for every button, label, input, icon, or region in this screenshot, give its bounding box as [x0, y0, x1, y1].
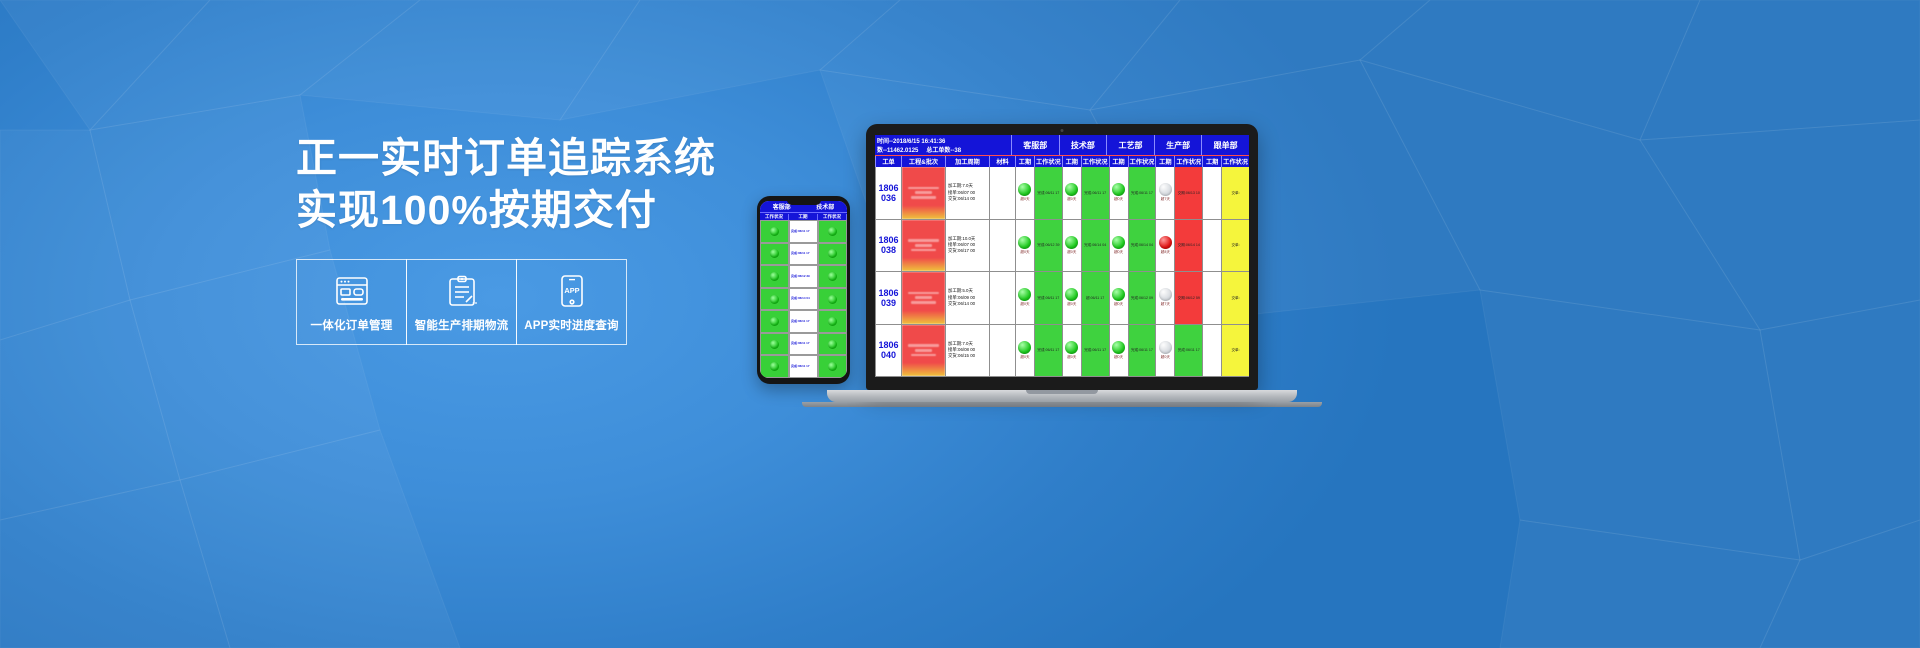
status-dot-grey	[1159, 288, 1172, 301]
cell-sub-text: 超8天	[1161, 250, 1170, 255]
cell-sub-text: 交期:06/12 59	[1178, 296, 1200, 301]
status-dot-green	[1018, 236, 1031, 249]
cell-sub-text: 超0天	[1067, 355, 1076, 360]
department-header-row: 客服部 技术部 工艺部 生产部 跟单部	[1011, 135, 1249, 155]
cell-sub-text: 交单:	[1231, 243, 1239, 248]
cell-sub-text: 超0天	[1114, 302, 1123, 307]
status-dot-green	[770, 340, 779, 349]
cell-sub-text: 超0天	[1114, 197, 1123, 202]
mobile-app-icon: APP	[560, 271, 584, 311]
total-orders-label: 总工单数--38	[926, 145, 961, 154]
cell-sub-text: 超0天	[1067, 302, 1076, 307]
list-item[interactable]	[760, 288, 789, 311]
cell-sub-text: 完成:06/11 17	[1037, 296, 1059, 301]
cell-status[interactable]: 完成:06/11 17	[1081, 325, 1109, 377]
work-order-number: 1806036	[878, 183, 898, 203]
dept-header-production[interactable]: 生产部	[1154, 135, 1202, 155]
cell-sub-text: 交单:	[1231, 348, 1239, 353]
list-item[interactable]	[760, 243, 789, 266]
status-dot-green	[828, 295, 837, 304]
cell-duration[interactable]: 超0天	[1062, 272, 1081, 324]
cell-sub-text: 交期:06/14 14	[1178, 243, 1200, 248]
status-dot-green	[1018, 341, 1031, 354]
cell-status[interactable]: 完成:06/14 04	[1081, 220, 1109, 272]
list-item[interactable]	[818, 355, 847, 378]
laptop-foot	[802, 402, 1322, 407]
phone-table-body: 完成:06/11 17 完成:06/11 17 完成:06/12 39 完成:0…	[760, 220, 847, 378]
cell-status[interactable]: 完成:06/12 09	[1128, 272, 1156, 324]
cell-material[interactable]	[989, 167, 1015, 219]
cell-duration[interactable]: 超7天	[1155, 272, 1174, 324]
cell-status[interactable]: 完成:06/11 17	[1034, 325, 1062, 377]
table-row[interactable]: 1806039加工期:5.0天接单:06/09 00交货:06/14 00超0天…	[875, 272, 1249, 325]
status-dot-green	[770, 295, 779, 304]
cell-sub-text: 超7天	[1161, 302, 1170, 307]
cell-sub-text: 完成:06/11 17	[1037, 348, 1059, 353]
status-dot-green	[1018, 288, 1031, 301]
cell-work-order[interactable]: 1806039	[875, 272, 901, 324]
table-row[interactable]: 1806036加工期:7.0天接单:06/07 00交货:06/14 00超0天…	[875, 167, 1249, 220]
status-dot-green	[770, 249, 779, 258]
phone-column-header: 工作状况 工期 工作状况	[760, 212, 847, 220]
list-item[interactable]	[818, 220, 847, 243]
dept-header-customer-service[interactable]: 客服部	[1011, 135, 1059, 155]
cell-material[interactable]	[989, 220, 1015, 272]
cell-status[interactable]: 交单:	[1221, 325, 1249, 377]
clipboard-schedule-icon	[447, 271, 477, 311]
status-dot-green	[770, 272, 779, 281]
cell-status[interactable]: 超:06/11 17	[1081, 272, 1109, 324]
dept-header-process[interactable]: 工艺部	[1106, 135, 1154, 155]
cell-status[interactable]: 完成:06/11 17	[1128, 167, 1156, 219]
feature-label: APP实时进度查询	[524, 317, 618, 333]
feature-smart-scheduling[interactable]: 智能生产排期物流	[406, 259, 517, 345]
webcam-icon	[1061, 129, 1064, 132]
list-item[interactable]: 完成:06/14 04	[789, 288, 818, 311]
cell-sub-text: 完成:06/11 17	[1084, 348, 1106, 353]
cell-sub-text: 超7天	[1161, 197, 1170, 202]
laptop-mockup: 时间--2018/6/15 16:41:36 数--11462.0125 总工单…	[866, 124, 1322, 407]
work-order-number: 1806038	[878, 235, 898, 255]
cell-duration[interactable]	[1202, 167, 1221, 219]
redacted-project-name	[902, 272, 945, 324]
page-title-line2: 实现100%按期交付	[296, 185, 726, 237]
feature-list: 一体化订单管理 智能生产排期物流 APP	[296, 259, 626, 345]
cell-work-order[interactable]: 1806038	[875, 220, 901, 272]
cell-status[interactable]: 交期:06/14 14	[1174, 220, 1202, 272]
list-item[interactable]	[760, 265, 789, 288]
cell-sub-text: 超:06/11 17	[1086, 296, 1104, 301]
cell-project[interactable]	[901, 220, 945, 272]
cell-sub-text: 完成:06/11 17	[1178, 348, 1200, 353]
cell-sub-text: 超0天	[1020, 355, 1029, 360]
cell-sub-text: 交单:	[1231, 296, 1239, 301]
cell-duration[interactable]: 超7天	[1155, 167, 1174, 219]
list-item[interactable]: 完成:06/11 17	[789, 220, 818, 243]
cell-sub-text: 完成:06/14 04	[1084, 243, 1106, 248]
cell-duration[interactable]: 超8天	[1155, 220, 1174, 272]
list-item[interactable]: 完成:06/11 17	[789, 333, 818, 356]
col-material[interactable]: 材料	[989, 156, 1015, 167]
cell-cycle[interactable]: 加工期:7.0天接单:06/08 00交货:06/15 00	[945, 325, 989, 377]
cell-sub-text: 超0天	[1161, 355, 1170, 360]
cycle-text: 加工期:7.0天接单:06/07 00交货:06/14 00	[946, 183, 989, 202]
laptop-screen: 时间--2018/6/15 16:41:36 数--11462.0125 总工单…	[875, 135, 1249, 377]
cell-text: 完成:06/11 17	[791, 252, 810, 255]
cell-status[interactable]: 交单:	[1221, 167, 1249, 219]
cell-sub-text: 交单:	[1231, 191, 1239, 196]
laptop-base	[827, 390, 1297, 402]
dept-header-technical[interactable]: 技术部	[1059, 135, 1107, 155]
cell-status[interactable]: 交单:	[1221, 220, 1249, 272]
laptop-lid: 时间--2018/6/15 16:41:36 数--11462.0125 总工单…	[866, 124, 1258, 390]
status-dot-red	[1159, 236, 1172, 249]
redacted-project-name	[902, 220, 945, 272]
column-header-row: 工单 工程&批次 加工周期 材料 工期 工作状况 工期 工作状况 工期 工作状况…	[875, 155, 1249, 167]
phone-col: 工作状况	[818, 214, 847, 220]
cell-sub-text: 完成:06/12 39	[1037, 243, 1059, 248]
cell-duration[interactable]: 超0天	[1015, 220, 1034, 272]
list-item[interactable]	[760, 310, 789, 333]
dept-header-followup[interactable]: 跟单部	[1201, 135, 1249, 155]
cell-status[interactable]: 完成:06/11 17	[1128, 325, 1156, 377]
cell-sub-text: 完成:06/14 04	[1131, 243, 1153, 248]
cell-sub-text: 超0天	[1020, 250, 1029, 255]
cell-status[interactable]: 交单:	[1221, 272, 1249, 324]
count-label: 数--11462.0125	[877, 145, 918, 154]
cell-sub-text: 完成:06/12 09	[1131, 296, 1153, 301]
dashboard-table-body: 1806036加工期:7.0天接单:06/07 00交货:06/14 00超0天…	[875, 167, 1249, 377]
cell-cycle[interactable]: 加工期:5.0天接单:06/09 00交货:06/14 00	[945, 272, 989, 324]
redacted-project-name	[902, 325, 945, 377]
col-status-5[interactable]: 工作状况	[1221, 156, 1249, 167]
cell-sub-text: 超0天	[1114, 250, 1123, 255]
col-status-2[interactable]: 工作状况	[1081, 156, 1109, 167]
cell-duration[interactable]: 超0天	[1062, 167, 1081, 219]
cell-duration[interactable]: 超0天	[1015, 325, 1034, 377]
cell-duration[interactable]: 超0天	[1015, 272, 1034, 324]
cell-sub-text: 超0天	[1020, 197, 1029, 202]
list-item[interactable]: 完成:06/11 17	[789, 243, 818, 266]
cell-text: 完成:06/11 17	[791, 365, 810, 368]
work-order-number: 1806039	[878, 288, 898, 308]
cell-duration[interactable]: 超0天	[1109, 325, 1128, 377]
cycle-text: 加工期:7.0天接单:06/08 00交货:06/15 00	[946, 341, 989, 360]
table-row[interactable]: 1806038加工期:10.0天接单:06/07 00交货:06/17 00超0…	[875, 220, 1249, 273]
cell-status[interactable]: 完成:06/12 39	[1034, 220, 1062, 272]
list-item[interactable]: 完成:06/11 17	[789, 310, 818, 333]
dashboard-topbar: 时间--2018/6/15 16:41:36 数--11462.0125 总工单…	[875, 135, 1249, 155]
status-dot-green	[828, 227, 837, 236]
cell-work-order[interactable]: 1806036	[875, 167, 901, 219]
cell-sub-text: 交期:06/13 10	[1178, 191, 1200, 196]
feature-label: 智能生产排期物流	[415, 317, 509, 333]
status-dot-green	[828, 249, 837, 258]
cell-text: 完成:06/11 17	[791, 230, 810, 233]
cycle-text: 加工期:5.0天接单:06/09 00交货:06/14 00	[946, 288, 989, 307]
cell-project[interactable]	[901, 272, 945, 324]
col-cycle[interactable]: 加工周期	[945, 156, 989, 167]
cell-duration[interactable]: 超0天	[1109, 220, 1128, 272]
status-dot-green	[828, 272, 837, 281]
list-item[interactable]	[760, 355, 789, 378]
status-dot-green	[1065, 236, 1078, 249]
status-dot-green	[1112, 288, 1125, 301]
col-duration-4[interactable]: 工期	[1155, 156, 1174, 167]
redacted-project-name	[902, 167, 945, 219]
status-dot-green	[770, 362, 779, 371]
cell-sub-text: 超0天	[1020, 302, 1029, 307]
list-item[interactable]	[818, 333, 847, 356]
status-dot-green	[1018, 183, 1031, 196]
cell-duration[interactable]: 超0天	[1015, 167, 1034, 219]
feature-label: 一体化订单管理	[311, 317, 393, 333]
status-dot-grey	[1159, 341, 1172, 354]
status-dot-green	[1112, 236, 1125, 249]
table-row[interactable]: 1806040加工期:7.0天接单:06/08 00交货:06/15 00超0天…	[875, 325, 1249, 378]
status-dot-green	[1112, 183, 1125, 196]
timestamp: 时间--2018/6/15 16:41:36	[877, 136, 1009, 145]
cell-text: 完成:06/14 04	[791, 297, 810, 300]
cell-status[interactable]: 完成:06/11 17	[1034, 272, 1062, 324]
cycle-text: 加工期:10.0天接单:06/07 00交货:06/17 00	[946, 236, 989, 255]
phone-col: 工期	[789, 214, 818, 220]
cell-status[interactable]: 交期:06/12 59	[1174, 272, 1202, 324]
order-window-icon	[335, 271, 369, 311]
cell-duration[interactable]	[1202, 272, 1221, 324]
cell-status[interactable]: 完成:06/11 17	[1034, 167, 1062, 219]
cell-duration[interactable]: 超0天	[1109, 167, 1128, 219]
feature-app-tracking[interactable]: APP APP实时进度查询	[516, 259, 627, 345]
cell-cycle[interactable]: 加工期:7.0天接单:06/07 00交货:06/14 00	[945, 167, 989, 219]
cell-project[interactable]	[901, 167, 945, 219]
cell-text: 完成:06/11 17	[791, 342, 810, 345]
cell-duration[interactable]: 超0天	[1155, 325, 1174, 377]
list-item[interactable]	[818, 243, 847, 266]
cell-duration[interactable]: 超0天	[1109, 272, 1128, 324]
col-duration-5[interactable]: 工期	[1202, 156, 1221, 167]
status-dot-green	[1065, 341, 1078, 354]
cell-status[interactable]: 完成:06/11 17	[1081, 167, 1109, 219]
cell-sub-text: 完成:06/11 17	[1131, 348, 1153, 353]
status-dot-green	[770, 227, 779, 236]
list-item[interactable]	[818, 288, 847, 311]
cell-duration[interactable]: 超0天	[1062, 220, 1081, 272]
status-dot-green	[1112, 341, 1125, 354]
cell-material[interactable]	[989, 272, 1015, 324]
col-status-1[interactable]: 工作状况	[1034, 156, 1062, 167]
col-status-4[interactable]: 工作状况	[1174, 156, 1202, 167]
cell-duration[interactable]	[1202, 325, 1221, 377]
phone-screen: 客服部 技术部 工作状况 工期 工作状况 完成:06/11 17 完成:06/1…	[760, 201, 847, 378]
cell-sub-text: 完成:06/11 17	[1131, 191, 1153, 196]
list-item[interactable]	[818, 310, 847, 333]
phone-column-status-right	[818, 220, 847, 378]
cell-status[interactable]: 完成:06/11 17	[1174, 325, 1202, 377]
list-item[interactable]: 完成:06/12 39	[789, 265, 818, 288]
status-dot-green	[770, 317, 779, 326]
cell-sub-text: 超0天	[1067, 250, 1076, 255]
work-order-number: 1806040	[878, 340, 898, 360]
cell-text: 完成:06/12 39	[791, 275, 810, 278]
cell-sub-text: 超0天	[1114, 355, 1123, 360]
col-project[interactable]: 工程&批次	[901, 156, 945, 167]
phone-notch	[787, 199, 821, 205]
phone-col: 工作状况	[760, 214, 789, 220]
col-duration-3[interactable]: 工期	[1109, 156, 1128, 167]
phone-column-status-left	[760, 220, 789, 378]
cell-sub-text: 完成:06/11 17	[1084, 191, 1106, 196]
status-dot-green	[828, 362, 837, 371]
cell-status[interactable]: 交期:06/13 10	[1174, 167, 1202, 219]
cell-sub-text: 完成:06/11 17	[1037, 191, 1059, 196]
app-badge-text: APP	[564, 286, 579, 295]
status-dot-green	[828, 317, 837, 326]
status-dot-green	[1065, 288, 1078, 301]
phone-mockup: 客服部 技术部 工作状况 工期 工作状况 完成:06/11 17 完成:06/1…	[757, 196, 850, 384]
col-duration-1[interactable]: 工期	[1015, 156, 1034, 167]
col-work-order[interactable]: 工单	[875, 156, 901, 167]
page-title-line1: 正一实时订单追踪系统	[296, 133, 726, 185]
cell-project[interactable]	[901, 325, 945, 377]
col-status-3[interactable]: 工作状况	[1128, 156, 1156, 167]
cell-text: 完成:06/11 17	[791, 320, 810, 323]
cell-status[interactable]: 完成:06/14 04	[1128, 220, 1156, 272]
list-item[interactable]	[760, 220, 789, 243]
dashboard-meta: 时间--2018/6/15 16:41:36 数--11462.0125 总工单…	[875, 135, 1011, 155]
cell-duration[interactable]: 超0天	[1062, 325, 1081, 377]
list-item[interactable]	[818, 265, 847, 288]
phone-column-text: 完成:06/11 17 完成:06/11 17 完成:06/12 39 完成:0…	[789, 220, 818, 378]
list-item[interactable]	[760, 333, 789, 356]
cell-material[interactable]	[989, 325, 1015, 377]
status-dot-grey	[1159, 183, 1172, 196]
cell-duration[interactable]	[1202, 220, 1221, 272]
feature-order-management[interactable]: 一体化订单管理	[296, 259, 407, 345]
col-duration-2[interactable]: 工期	[1062, 156, 1081, 167]
list-item[interactable]: 完成:06/11 17	[789, 355, 818, 378]
cell-sub-text: 超0天	[1067, 197, 1076, 202]
status-dot-green	[1065, 183, 1078, 196]
hero-copy: 正一实时订单追踪系统 实现100%按期交付	[296, 133, 726, 236]
status-dot-green	[828, 340, 837, 349]
cell-cycle[interactable]: 加工期:10.0天接单:06/07 00交货:06/17 00	[945, 220, 989, 272]
cell-work-order[interactable]: 1806040	[875, 325, 901, 377]
